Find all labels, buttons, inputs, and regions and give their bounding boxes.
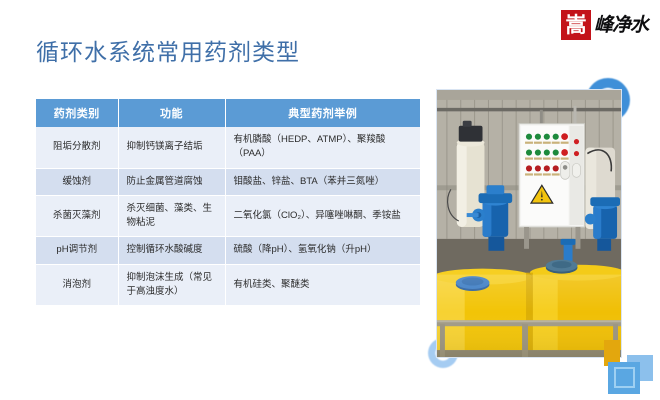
table-header-row: 药剂类别 功能 典型药剂举例 — [36, 99, 420, 127]
table-row: 缓蚀剂 防止金属管道腐蚀 钼酸盐、锌盐、BTA（苯并三氮唑） — [36, 168, 420, 195]
chemical-types-table: 药剂类别 功能 典型药剂举例 阻垢分散剂 抑制钙镁离子结垢 有机膦酸（HEDP、… — [36, 99, 420, 306]
logo-wordmark: 峰净水 — [594, 10, 648, 40]
cell-category: 杀菌灭藻剂 — [36, 195, 118, 237]
cell-examples: 硫酸（降pH）、氢氧化钠（升pH） — [225, 237, 420, 264]
page-title: 循环水系统常用药剂类型 — [36, 33, 300, 67]
slide-canvas: 嵩 峰净水 循环水系统常用药剂类型 药剂类别 功能 典型药剂举例 阻垢分散剂 抑… — [0, 0, 660, 400]
cell-examples: 有机硅类、聚醚类 — [225, 264, 420, 306]
table-row: 阻垢分散剂 抑制钙镁离子结垢 有机膦酸（HEDP、ATMP）、聚羧酸（PAA） — [36, 127, 420, 168]
table-row: pH调节剂 控制循环水酸碱度 硫酸（降pH）、氢氧化钠（升pH） — [36, 237, 420, 264]
chemical-dosing-system-photo — [436, 89, 622, 358]
cell-category: 缓蚀剂 — [36, 168, 118, 195]
photo-container — [434, 87, 624, 360]
cell-function: 抑制钙镁离子结垢 — [118, 127, 225, 168]
company-logo: 嵩 峰净水 — [561, 8, 648, 42]
cell-examples: 钼酸盐、锌盐、BTA（苯并三氮唑） — [225, 168, 420, 195]
cell-function: 控制循环水酸碱度 — [118, 237, 225, 264]
cell-category: 消泡剂 — [36, 264, 118, 306]
column-header-category: 药剂类别 — [36, 99, 118, 127]
cell-category: pH调节剂 — [36, 237, 118, 264]
cell-examples: 有机膦酸（HEDP、ATMP）、聚羧酸（PAA） — [225, 127, 420, 168]
cell-category: 阻垢分散剂 — [36, 127, 118, 168]
table-row: 杀菌灭藻剂 杀灭细菌、藻类、生物粘泥 二氧化氯（ClO₂）、异噻唑啉酮、季铵盐 — [36, 195, 420, 237]
cell-examples: 二氧化氯（ClO₂）、异噻唑啉酮、季铵盐 — [225, 195, 420, 237]
cell-function: 杀灭细菌、藻类、生物粘泥 — [118, 195, 225, 237]
column-header-function: 功能 — [118, 99, 225, 127]
decorative-blue-square-outline — [614, 367, 635, 388]
table-row: 消泡剂 抑制泡沫生成（常见于高浊度水） 有机硅类、聚醚类 — [36, 264, 420, 306]
cell-function: 防止金属管道腐蚀 — [118, 168, 225, 195]
logo-seal-icon: 嵩 — [561, 10, 591, 40]
cell-function: 抑制泡沫生成（常见于高浊度水） — [118, 264, 225, 306]
column-header-examples: 典型药剂举例 — [225, 99, 420, 127]
